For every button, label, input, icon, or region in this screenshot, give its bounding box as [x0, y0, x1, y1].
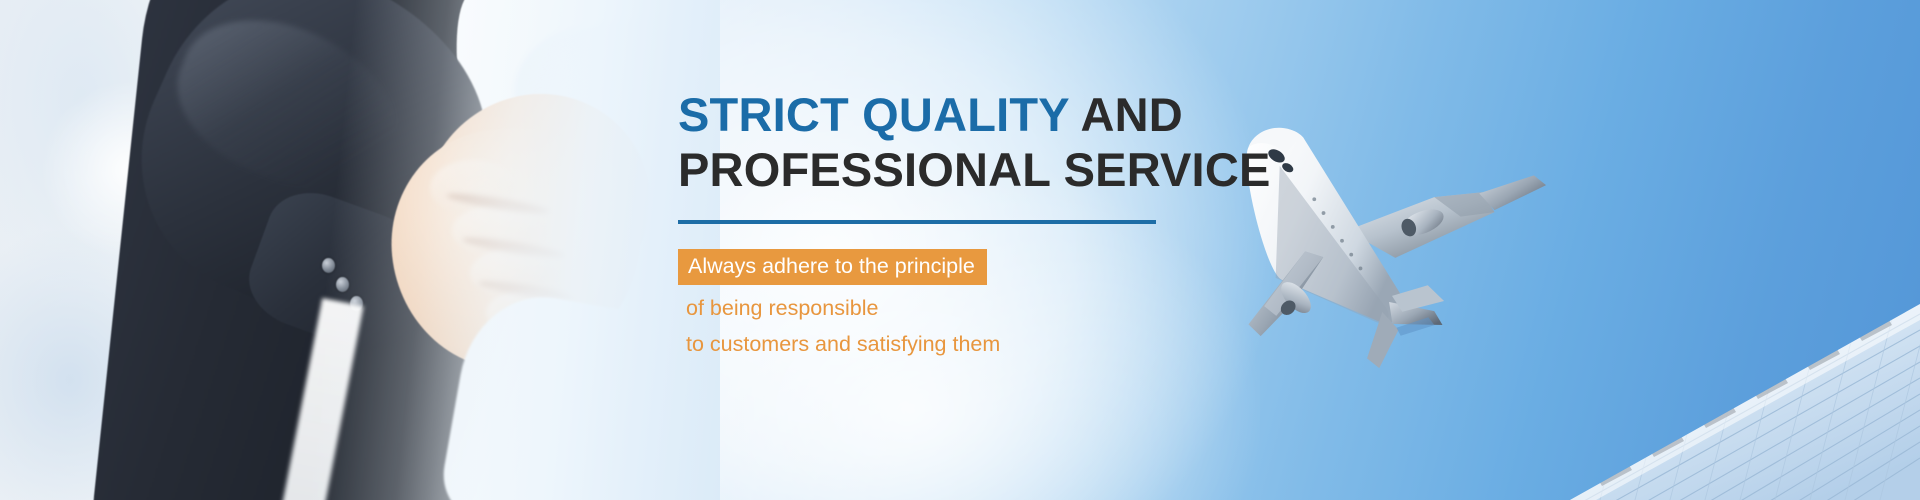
headline-dark-text: AND: [1069, 88, 1183, 141]
subtext-line-3: to customers and satisfying them: [678, 334, 1438, 356]
subtext-line-2: of being responsible: [678, 298, 1438, 320]
subtext-block: Always adhere to the principle of being …: [678, 249, 1438, 356]
headline-divider: [678, 220, 1156, 224]
handshake-photo: [0, 0, 720, 500]
banner-text-block: STRICT QUALITY AND PROFESSIONAL SERVICE …: [678, 88, 1438, 355]
headline-line-2: PROFESSIONAL SERVICE: [678, 143, 1438, 198]
subtext-line-1-row: Always adhere to the principle: [678, 249, 1438, 286]
headline-accent-text: STRICT QUALITY: [678, 88, 1069, 141]
sleeve-button-icon: [322, 258, 335, 273]
sleeve-button-icon: [336, 277, 349, 292]
subtext-highlight: Always adhere to the principle: [678, 249, 987, 286]
headline-line-1: STRICT QUALITY AND: [678, 88, 1438, 143]
promo-banner: STRICT QUALITY AND PROFESSIONAL SERVICE …: [0, 0, 1920, 500]
